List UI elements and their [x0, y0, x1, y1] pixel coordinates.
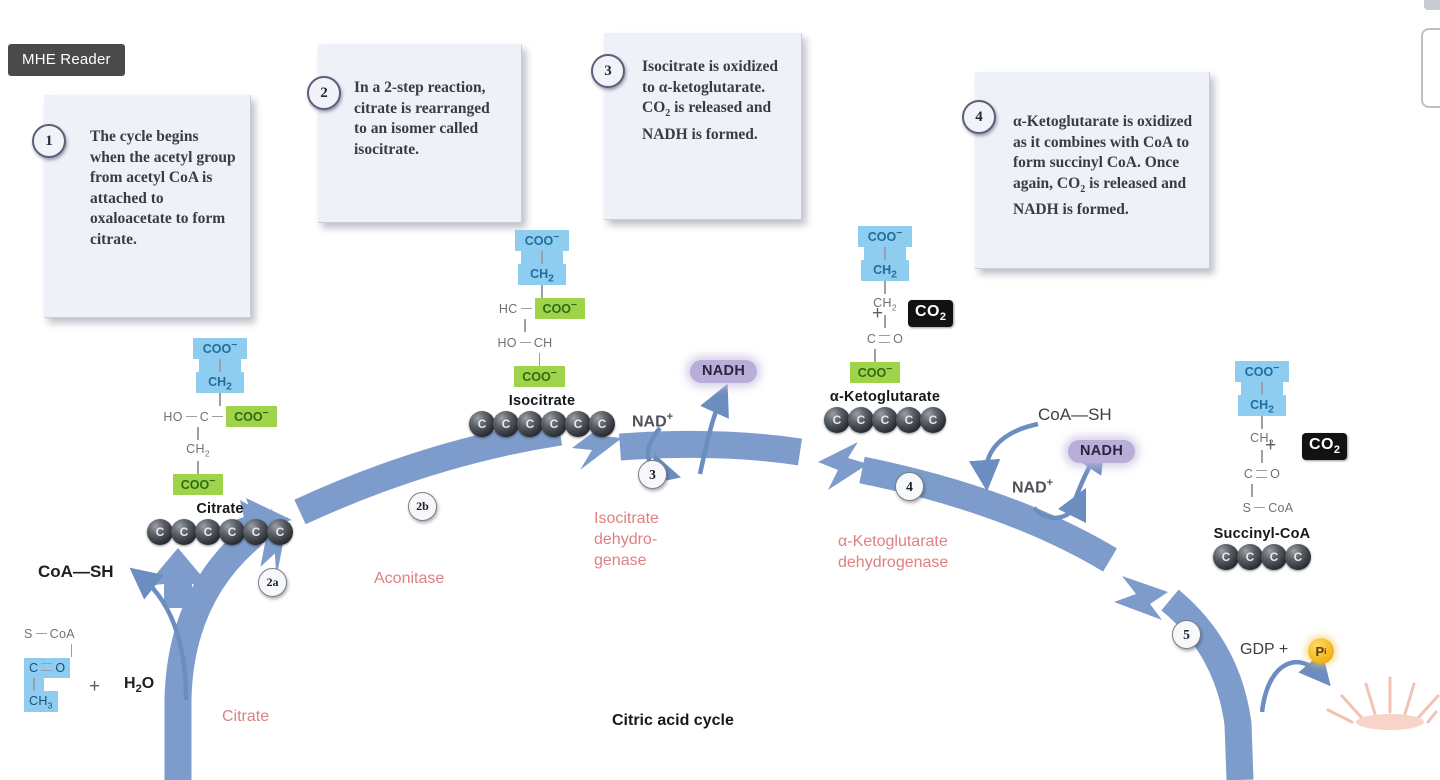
water-label: H2O — [124, 675, 154, 695]
callout-box-4[interactable]: α-Ketoglutarate is oxidized as it combin… — [975, 72, 1210, 269]
co2-chip-top: CO2 — [908, 300, 953, 327]
coa-sh-label-left: CoA—SH — [38, 562, 114, 582]
carbon-sphere: C — [1237, 544, 1263, 570]
step-circle-4[interactable]: 4 — [895, 472, 924, 501]
molecule-succinyl-coa: COO− CH2 CH2 CO SCoA Succinyl-CoA C C C … — [1172, 363, 1352, 570]
step-circle-3[interactable]: 3 — [638, 460, 667, 489]
callout-4-number: 4 — [962, 100, 996, 134]
step-circle-2b[interactable]: 2b — [408, 492, 437, 521]
carbon-sphere: C — [195, 519, 221, 545]
carbon-sphere: C — [469, 411, 495, 437]
carbon-sphere: C — [541, 411, 567, 437]
energy-burst-icon — [1328, 678, 1438, 730]
succinyl-coa-carbon-chain: C C C C — [1172, 544, 1352, 570]
carbon-sphere: C — [589, 411, 615, 437]
carbon-sphere: C — [267, 519, 293, 545]
step-circle-5[interactable]: 5 — [1172, 620, 1201, 649]
callout-4-text: α-Ketoglutarate is oxidized as it combin… — [1013, 112, 1193, 221]
carbon-sphere: C — [824, 407, 850, 433]
carbon-sphere: C — [1285, 544, 1311, 570]
molecule-citrate-label: Citrate — [130, 501, 310, 517]
coa-sh-in-curve-step4 — [986, 424, 1038, 478]
nad-plus-label-step3: NAD+ — [632, 411, 673, 431]
step-circle-2a[interactable]: 2a — [258, 568, 287, 597]
mhe-reader-badge[interactable]: MHE Reader — [8, 44, 125, 76]
enzyme-alpha-ketoglutarate-dehydrogenase: α-Ketoglutarate dehydrogenase — [838, 531, 948, 573]
gdp-label: GDP + — [1240, 641, 1288, 659]
carbon-sphere: C — [1261, 544, 1287, 570]
callout-box-1[interactable]: The cycle begins when the acetyl group f… — [44, 95, 251, 318]
carbon-sphere: C — [171, 519, 197, 545]
diagram-canvas: MHE Reader The cycle begins when the ace… — [0, 0, 1440, 780]
coa-sh-label-right: CoA—SH — [1038, 405, 1112, 425]
carbon-sphere: C — [920, 407, 946, 433]
carbon-sphere: C — [872, 407, 898, 433]
enzyme-aconitase: Aconitase — [374, 568, 444, 589]
nad-plus-label-step4: NAD+ — [1012, 477, 1053, 497]
nadh-badge-step3: NADH — [690, 360, 757, 383]
callout-2-text: In a 2-step reaction, citrate is rearran… — [354, 78, 504, 160]
plus-sign-co2-top: + — [872, 303, 883, 325]
plus-sign-co2-right: + — [1265, 435, 1276, 457]
callout-3-number: 3 — [591, 54, 625, 88]
callout-2-number: 2 — [307, 76, 341, 110]
callout-box-2[interactable]: In a 2-step reaction, citrate is rearran… — [318, 44, 522, 223]
cycle-title: Citric acid cycle — [612, 712, 734, 730]
molecule-alpha-ketoglutarate: COO− CH2 CH2 CO COO− α-Ketoglutarate C C… — [795, 228, 975, 433]
callout-box-3[interactable]: Isocitrate is oxidized to α-ketoglutarat… — [604, 33, 802, 220]
carbon-sphere: C — [147, 519, 173, 545]
citrate-carbon-chain: C C C C C C — [130, 519, 310, 545]
molecule-alpha-ketoglutarate-label: α-Ketoglutarate — [795, 389, 975, 405]
molecule-acetyl-coa: SCoA CO CH3 — [24, 625, 114, 710]
gdp-pi-curve — [1262, 662, 1322, 712]
ketoglutarate-carbon-chain: C C C C C — [795, 407, 975, 433]
callout-1-number: 1 — [32, 124, 66, 158]
callout-3-text: Isocitrate is oxidized to α-ketoglutarat… — [642, 57, 788, 145]
carbon-sphere: C — [219, 519, 245, 545]
citrate-arrow-label: Citrate — [222, 706, 269, 727]
co2-chip-right: CO2 — [1302, 433, 1347, 460]
callout-1-text: The cycle begins when the acetyl group f… — [90, 127, 236, 250]
isocitrate-carbon-chain: C C C C C C — [452, 411, 632, 437]
molecule-citrate: COO− CH2 HOCCOO− CH2 COO− Citrate C C C … — [130, 340, 310, 545]
molecule-isocitrate-label: Isocitrate — [452, 393, 632, 409]
right-panel-button[interactable] — [1421, 28, 1440, 108]
right-panel-tab[interactable] — [1424, 0, 1440, 10]
carbon-sphere: C — [493, 411, 519, 437]
inorganic-phosphate-icon: Pi — [1308, 638, 1334, 664]
enzyme-isocitrate-dehydrogenase: Isocitrate dehydro- genase — [594, 508, 659, 571]
molecule-isocitrate: COO− CH2 HCCOO− HOCH COO− Isocitrate C C… — [452, 232, 632, 437]
carbon-sphere: C — [517, 411, 543, 437]
carbon-sphere: C — [243, 519, 269, 545]
carbon-sphere: C — [848, 407, 874, 433]
plus-sign-water: + — [89, 676, 100, 698]
carbon-sphere: C — [565, 411, 591, 437]
nadh-badge-step4: NADH — [1068, 440, 1135, 463]
molecule-succinyl-coa-label: Succinyl-CoA — [1172, 526, 1352, 542]
carbon-sphere: C — [896, 407, 922, 433]
carbon-sphere: C — [1213, 544, 1239, 570]
